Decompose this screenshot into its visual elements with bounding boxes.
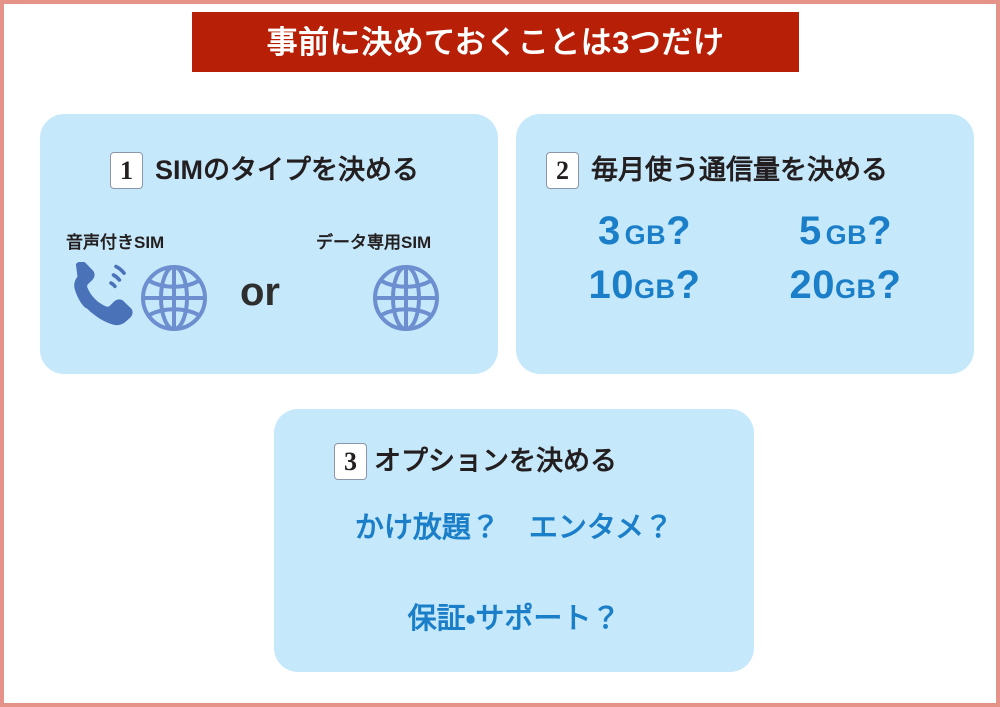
card-3-title: オプションを決める xyxy=(374,448,617,475)
card-2-title: 毎月使う通信量を決める xyxy=(591,157,888,184)
globe-icon xyxy=(370,262,442,339)
card-3-title-row: 3 オプションを決める xyxy=(334,443,617,480)
step-number-2: 2 xyxy=(546,152,579,189)
data-volume-options: 3 GB? 5 GB? 10GB? 20GB? xyxy=(516,209,974,307)
data-option-mark: ? xyxy=(877,263,902,307)
data-option: 20GB? xyxy=(790,263,902,307)
data-option-mark: ? xyxy=(867,209,892,253)
data-option-amount: 20 xyxy=(790,263,836,307)
card-1-title: SIMのタイプを決める xyxy=(155,157,419,184)
phone-icon xyxy=(70,262,144,339)
data-option-unit: GB xyxy=(826,220,868,250)
data-option-amount: 3 xyxy=(598,209,621,253)
data-option-unit: GB xyxy=(625,220,667,250)
data-option: 3 GB? xyxy=(598,209,691,253)
step-number-1: 1 xyxy=(110,152,143,189)
sim-or-separator: or xyxy=(240,272,280,312)
addon-option-line: 保証・サポート？ xyxy=(274,605,754,634)
page-title: 事前に決めておくことは3つだけ xyxy=(267,27,725,58)
data-option-amount: 5 xyxy=(799,209,822,253)
data-option-mark: ? xyxy=(676,263,701,307)
addon-option-list: かけ放題？ エンタメ？ 保証・サポート？ xyxy=(274,514,754,634)
card-data-volume: 2 毎月使う通信量を決める 3 GB? 5 GB? 10GB? 20GB? xyxy=(516,114,974,374)
data-option-unit: GB xyxy=(634,274,676,304)
header-band: 事前に決めておくことは3つだけ xyxy=(192,12,799,72)
data-option: 5 GB? xyxy=(799,209,892,253)
data-option-mark: ? xyxy=(666,209,691,253)
sim-icon-row: or xyxy=(40,262,498,342)
sim-option-data-label: データ専用SIM xyxy=(316,234,431,251)
addon-option-line: かけ放題？ エンタメ？ xyxy=(274,514,754,543)
data-option-amount: 10 xyxy=(589,263,635,307)
step-number-3: 3 xyxy=(334,443,367,480)
card-sim-type: 1 SIMのタイプを決める 音声付きSIM データ専用SIM xyxy=(40,114,498,374)
data-option: 10GB? xyxy=(589,263,701,307)
sim-label-row: 音声付きSIM データ専用SIM xyxy=(40,234,498,256)
globe-icon xyxy=(138,262,210,339)
card-1-title-row: 1 SIMのタイプを決める xyxy=(110,152,419,189)
sim-option-voice-label: 音声付きSIM xyxy=(66,234,164,251)
card-addon-options: 3 オプションを決める かけ放題？ エンタメ？ 保証・サポート？ xyxy=(274,409,754,672)
card-2-title-row: 2 毎月使う通信量を決める xyxy=(546,152,888,189)
data-option-unit: GB xyxy=(835,274,877,304)
infographic-frame: 事前に決めておくことは3つだけ 1 SIMのタイプを決める 音声付きSIM デー… xyxy=(0,0,1000,707)
